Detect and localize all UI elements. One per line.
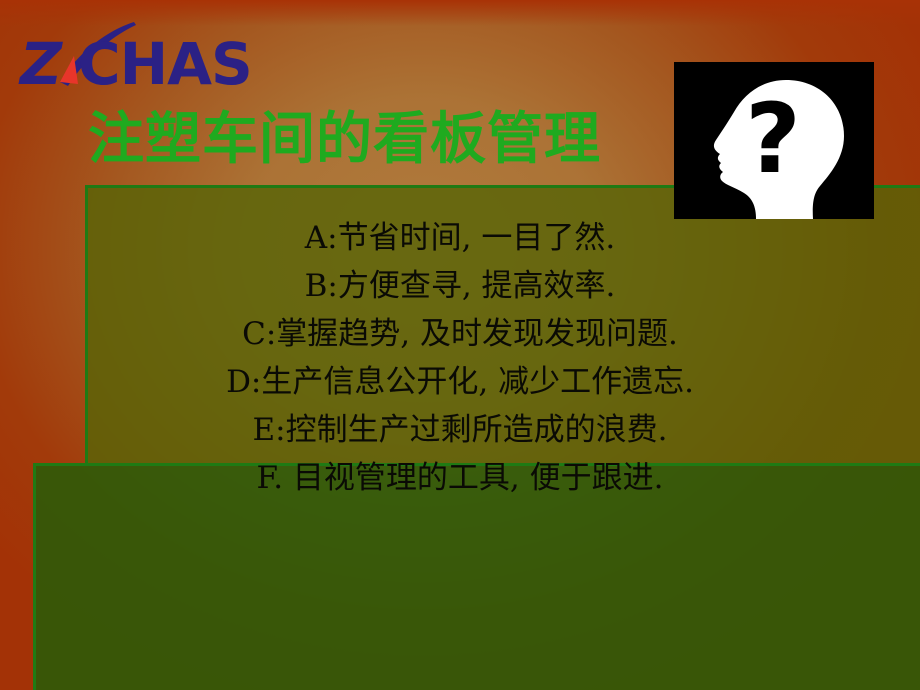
company-logo: Z CHASE [16,16,256,94]
list-item: F. 目视管理的工具, 便于跟进. [0,454,920,502]
bullet-list: A:节省时间, 一目了然. B:方便查寻, 提高效率. C:掌握趋势, 及时发现… [0,214,920,502]
list-item: B:方便查寻, 提高效率. [0,262,920,310]
presentation-slide: Z CHASE 注塑车间的看板管理 ? A:节省时间, 一目了然. B:方便查寻… [0,0,920,690]
list-item: C:掌握趋势, 及时发现发现问题. [0,310,920,358]
logo-accent-icon [60,56,78,84]
question-head-image: ? [674,62,874,219]
list-item: D:生产信息公开化, 减少工作遗忘. [0,358,920,406]
list-item: A:节省时间, 一目了然. [0,214,920,262]
logo-wordmark: CHASE [78,30,256,94]
list-item: E:控制生产过剩所造成的浪费. [0,406,920,454]
question-mark-icon: ? [745,83,801,195]
logo-letter-z: Z [18,30,63,94]
page-title: 注塑车间的看板管理 [88,112,601,168]
